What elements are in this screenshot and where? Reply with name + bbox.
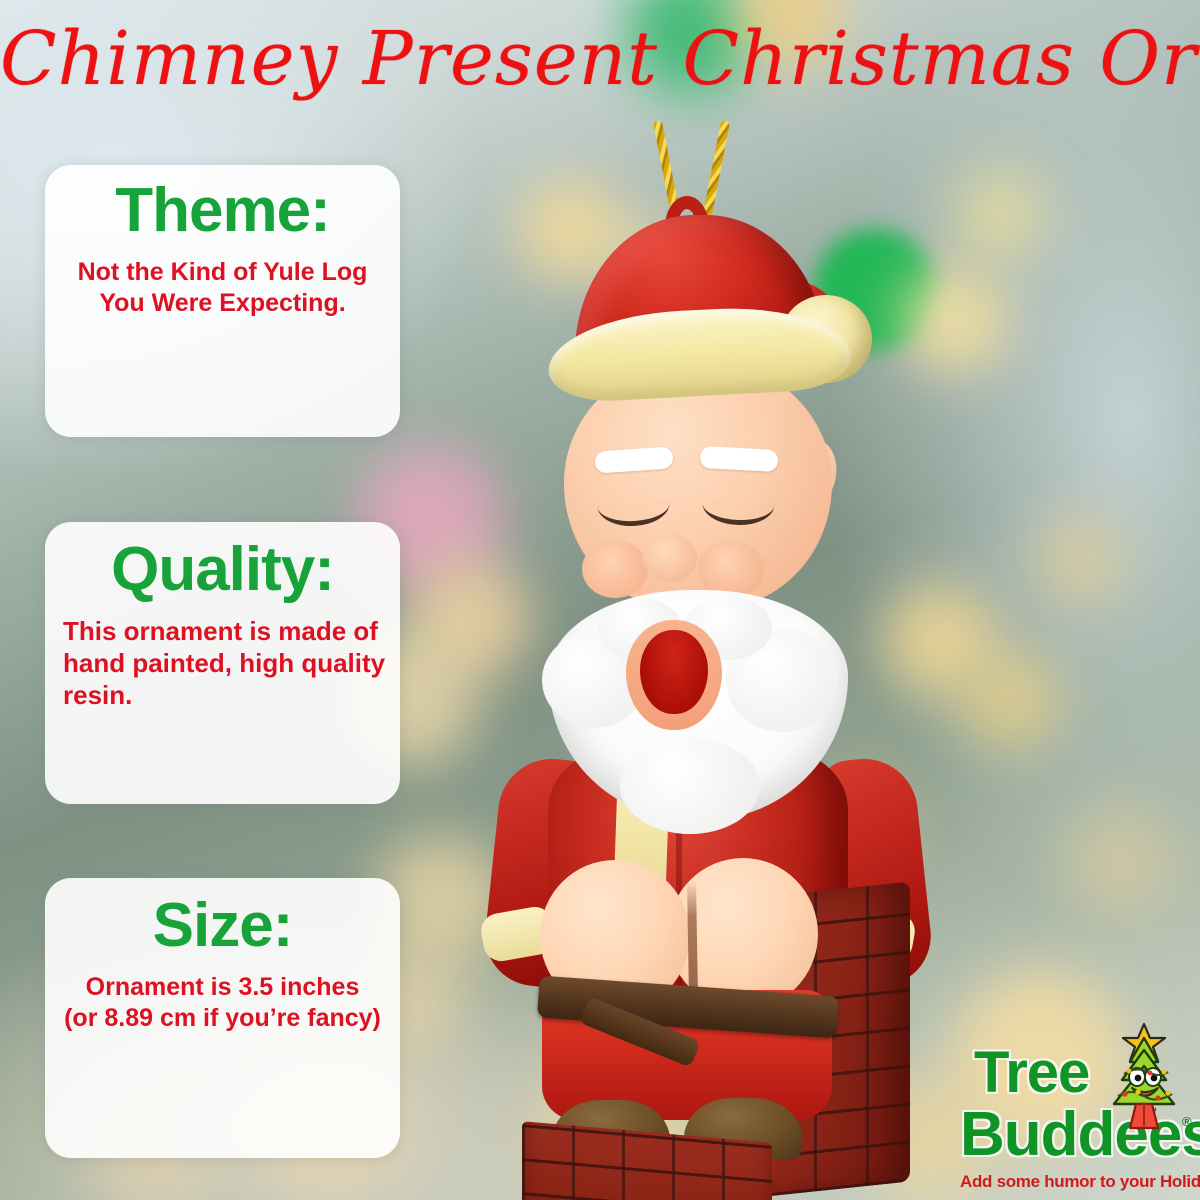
info-card-quality: Quality: This ornament is made of hand p… bbox=[45, 522, 400, 804]
logo-text-tree: Tree bbox=[974, 1044, 1089, 1102]
card-heading-theme: Theme: bbox=[59, 179, 386, 243]
info-card-theme: Theme: Not the Kind of Yule Log You Were… bbox=[45, 165, 400, 437]
product-image-santa-chimney-ornament bbox=[430, 120, 970, 1180]
santa-beard-puff-bottom bbox=[620, 738, 760, 834]
santa-mouth-open bbox=[640, 630, 708, 714]
card-body-theme: Not the Kind of Yule Log You Were Expect… bbox=[59, 257, 386, 318]
santa-nose bbox=[643, 534, 697, 582]
page-title: Chimney Present Christmas Ornament bbox=[0, 22, 1200, 96]
card-heading-quality: Quality: bbox=[59, 538, 386, 602]
info-card-size: Size: Ornament is 3.5 inches (or 8.89 cm… bbox=[45, 878, 400, 1158]
logo-tagline: Add some humor to your Holidays! bbox=[960, 1172, 1198, 1192]
product-infographic: Chimney Present Christmas Ornament Theme… bbox=[0, 0, 1200, 1200]
brand-logo[interactable]: Tree Buddees ® ™ Add some humor to your … bbox=[952, 1022, 1196, 1200]
hanging-cord-right bbox=[703, 120, 730, 216]
card-body-quality: This ornament is made of hand painted, h… bbox=[59, 616, 386, 711]
santa-cheek-left bbox=[582, 540, 648, 598]
christmas-tree-character-icon bbox=[1098, 1022, 1190, 1134]
santa-eyebrow-right bbox=[699, 446, 778, 472]
card-heading-size: Size: bbox=[59, 894, 386, 958]
card-body-size: Ornament is 3.5 inches (or 8.89 cm if yo… bbox=[59, 972, 386, 1033]
